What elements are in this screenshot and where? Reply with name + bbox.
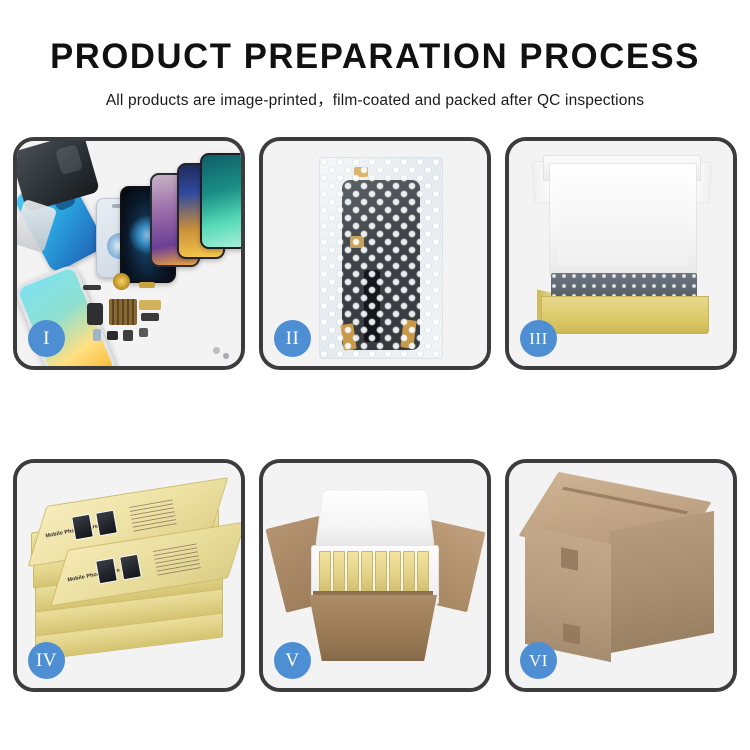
step-badge-2: II [274, 320, 311, 357]
phone-green [200, 153, 241, 249]
box-front-panel [541, 296, 709, 334]
box-art-screen-1 [71, 514, 94, 541]
step-panel-2[interactable]: II [259, 137, 491, 370]
connector-part-1 [83, 285, 101, 290]
page-header: PRODUCT PREPARATION PROCESS All products… [0, 0, 750, 110]
inner-box [389, 551, 401, 595]
step-badge-6: VI [520, 642, 557, 679]
inner-box [375, 551, 387, 595]
step-panel-4[interactable]: Mobile Phone Spare Parts Mobile Phone Sp… [13, 459, 245, 692]
flex-cable-part-1 [87, 303, 103, 325]
step-panel-6[interactable]: VI [505, 459, 737, 692]
inner-box [347, 551, 359, 595]
step-badge-5: V [274, 642, 311, 679]
step-panel-1[interactable]: I [13, 137, 245, 370]
step-badge-4: IV [28, 642, 65, 679]
carton-tape-upper [561, 547, 578, 571]
step-badge-3: III [520, 320, 557, 357]
screw-part-2 [223, 353, 229, 359]
flex-cable-part-3 [141, 313, 159, 321]
box-art-screen-4 [119, 554, 142, 581]
process-steps-grid: I II III [13, 137, 737, 692]
carton-right-face [610, 511, 714, 653]
small-part-1 [93, 329, 101, 341]
box-stack: Mobile Phone Spare Parts Mobile Phone Sp… [31, 489, 227, 665]
inner-box [361, 551, 373, 595]
small-part-4 [139, 328, 148, 337]
flex-cable-part-2 [139, 300, 161, 310]
screw-part-1 [213, 347, 220, 354]
box-art-screen-2 [95, 510, 118, 537]
step-badge-1: I [28, 320, 65, 357]
inner-boxes-row [319, 551, 429, 595]
carton-body [309, 595, 437, 661]
small-part-2 [107, 331, 118, 340]
foam-lid [315, 490, 435, 549]
inner-box [417, 551, 429, 595]
connector-part-2 [139, 282, 155, 288]
inner-box [333, 551, 345, 595]
page-title: PRODUCT PREPARATION PROCESS [4, 38, 747, 77]
page-subtitle: All products are image-printed，film-coat… [0, 88, 750, 110]
carton-tape-lower [563, 623, 580, 645]
chip-array-part [109, 299, 137, 325]
step-panel-3[interactable]: III [505, 137, 737, 370]
vibration-motor-part [113, 273, 130, 290]
step-panel-5[interactable]: V [259, 459, 491, 692]
inner-box [403, 551, 415, 595]
bubble-wrap-bag [319, 157, 443, 359]
bubble-texture [320, 158, 442, 358]
inner-box [319, 551, 331, 595]
small-part-3 [123, 330, 133, 341]
box-art-screen-3 [95, 558, 118, 585]
foam-sheet [549, 163, 697, 277]
